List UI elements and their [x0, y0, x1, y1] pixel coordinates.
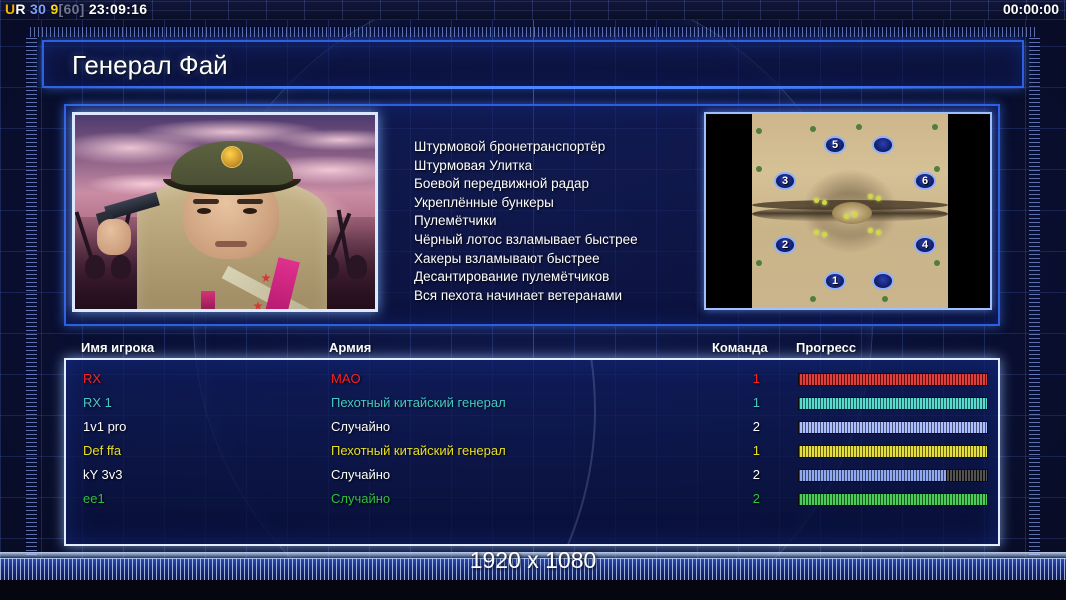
game-lobby-screen: UR 30 9[60] 23:09:16 00:00:00 Генерал Фа…: [0, 0, 1066, 600]
table-row[interactable]: RX 1Пехотный китайский генерал1: [66, 392, 998, 416]
player-name: ee1: [83, 491, 105, 506]
game-timer: 00:00:00: [1003, 1, 1059, 17]
player-name: Def ffa: [83, 443, 121, 458]
player-army: Пехотный китайский генерал: [331, 443, 506, 458]
page-title: Генерал Фай: [72, 50, 228, 81]
player-progress-bar: [798, 445, 988, 458]
player-name: RX: [83, 371, 101, 386]
general-info-panel: Штурмовой бронетранспортёр Штурмовая Ули…: [64, 104, 1000, 326]
player-team: 1: [746, 443, 760, 458]
player-team: 2: [746, 467, 760, 482]
general-portrait: [75, 115, 375, 309]
player-table: RXMAO1RX 1Пехотный китайский генерал11v1…: [64, 358, 1000, 546]
progress-fill: [799, 470, 946, 481]
ability-item: Штурмовой бронетранспортёр: [414, 138, 704, 157]
player-team: 1: [746, 371, 760, 386]
ability-item: Штурмовая Улитка: [414, 157, 704, 176]
ability-item: Хакеры взламывают быстрее: [414, 250, 704, 269]
player-table-header: Имя игрока Армия Команда Прогресс: [64, 340, 1000, 358]
map-preview[interactable]: 536241: [704, 112, 992, 310]
ruler-left: [26, 38, 37, 558]
table-row[interactable]: Def ffaПехотный китайский генерал1: [66, 440, 998, 464]
map-start-position-1[interactable]: 1: [824, 272, 846, 290]
general-portrait-frame: [72, 112, 378, 312]
table-row[interactable]: kY 3v3Случайно2: [66, 464, 998, 488]
progress-fill: [799, 398, 987, 409]
map-start-position-2[interactable]: 2: [774, 236, 796, 254]
progress-fill: [799, 446, 987, 457]
map-start-position-empty[interactable]: [872, 136, 894, 154]
player-progress-bar: [798, 397, 988, 410]
status-bar: UR 30 9[60] 23:09:16 00:00:00: [0, 0, 1066, 20]
progress-empty: [946, 470, 987, 481]
ability-item: Укреплённые бункеры: [414, 194, 704, 213]
resolution-label: 1920 x 1080: [0, 547, 1066, 574]
ability-item: Вся пехота начинает ветеранами: [414, 287, 704, 306]
player-army: MAO: [331, 371, 361, 386]
player-army: Пехотный китайский генерал: [331, 395, 506, 410]
fps-value: 30: [30, 1, 46, 17]
ping-value: 9: [50, 1, 58, 17]
table-row[interactable]: ee1Случайно2: [66, 488, 998, 512]
ability-item: Пулемётчики: [414, 212, 704, 231]
ping-bracket: [60]: [59, 1, 85, 17]
player-team: 2: [746, 491, 760, 506]
progress-fill: [799, 374, 987, 385]
header-army: Армия: [329, 340, 371, 355]
player-team: 2: [746, 419, 760, 434]
network-status: UR 30 9[60] 23:09:16: [5, 1, 147, 17]
player-army: Случайно: [331, 419, 390, 434]
player-name: 1v1 pro: [83, 419, 126, 434]
player-progress-bar: [798, 373, 988, 386]
status-prefix-r: R: [15, 1, 25, 17]
cap-emblem-icon: [221, 146, 243, 168]
title-underline: [44, 86, 1026, 89]
player-team: 1: [746, 395, 760, 410]
ability-item: Чёрный лотос взламывает быстрее: [414, 231, 704, 250]
player-progress-bar: [798, 469, 988, 482]
player-army: Случайно: [331, 467, 390, 482]
ruler-right: [1029, 38, 1040, 558]
map-start-position-empty[interactable]: [872, 272, 894, 290]
header-progress: Прогресс: [796, 340, 856, 355]
map-start-position-4[interactable]: 4: [914, 236, 936, 254]
table-row[interactable]: RXMAO1: [66, 368, 998, 392]
ability-item: Десантирование пулемётчиков: [414, 268, 704, 287]
general-abilities-list: Штурмовой бронетранспортёр Штурмовая Ули…: [414, 138, 704, 305]
table-row[interactable]: 1v1 proСлучайно2: [66, 416, 998, 440]
player-name: kY 3v3: [83, 467, 123, 482]
system-clock: 23:09:16: [89, 1, 147, 17]
status-prefix-u: U: [5, 1, 15, 17]
player-name: RX 1: [83, 395, 112, 410]
header-player-name: Имя игрока: [81, 340, 154, 355]
map-start-position-6[interactable]: 6: [914, 172, 936, 190]
player-progress-bar: [798, 493, 988, 506]
player-army: Случайно: [331, 491, 390, 506]
map-start-position-3[interactable]: 3: [774, 172, 796, 190]
progress-fill: [799, 422, 987, 433]
player-progress-bar: [798, 421, 988, 434]
title-panel: Генерал Фай: [42, 40, 1024, 88]
map-start-position-5[interactable]: 5: [824, 136, 846, 154]
progress-fill: [799, 494, 987, 505]
ruler-top: [30, 27, 1036, 37]
ability-item: Боевой передвижной радар: [414, 175, 704, 194]
header-team: Команда: [712, 340, 768, 355]
map-terrain: 536241: [752, 114, 948, 308]
